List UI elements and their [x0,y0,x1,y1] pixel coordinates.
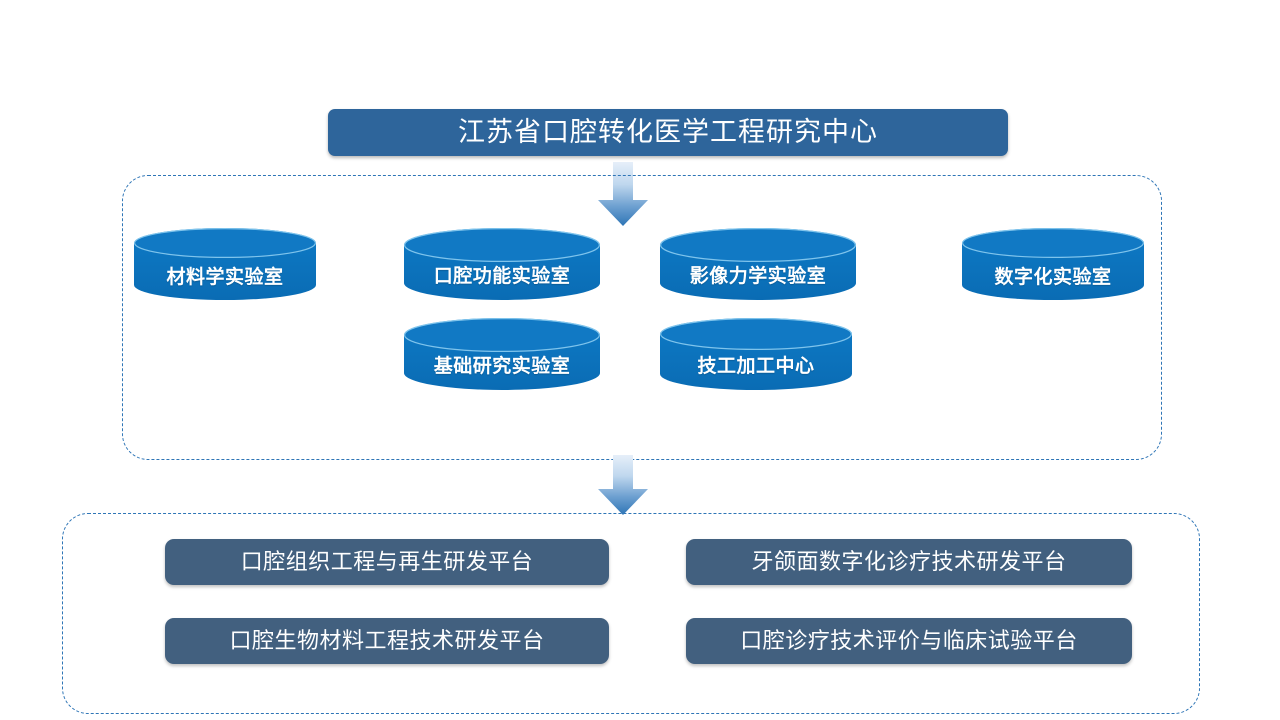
center-title-label: 江苏省口腔转化医学工程研究中心 [458,119,878,146]
center-title-box: 江苏省口腔转化医学工程研究中心 [328,109,1008,156]
arrow-labs-to-platforms [595,455,651,515]
platform-box-2[interactable]: 口腔生物材料工程技术研发平台 [165,618,609,664]
platform-box-0[interactable]: 口腔组织工程与再生研发平台 [165,539,609,585]
platform-box-1-label: 牙颌面数字化诊疗技术研发平台 [751,551,1066,573]
cylinder-lab-5[interactable]: 技工加工中心 [660,318,852,390]
platform-box-3[interactable]: 口腔诊疗技术评价与临床试验平台 [686,618,1132,664]
cylinder-lab-4[interactable]: 基础研究实验室 [404,318,600,390]
cylinder-lab-3[interactable]: 数字化实验室 [962,228,1144,300]
platform-box-3-label: 口腔诊疗技术评价与临床试验平台 [740,630,1078,652]
cylinder-lab-2[interactable]: 影像力学实验室 [660,228,856,300]
diagram-canvas: 江苏省口腔转化医学工程研究中心 [0,0,1280,720]
cylinder-lab-0[interactable]: 材料学实验室 [134,228,316,300]
platform-box-1[interactable]: 牙颌面数字化诊疗技术研发平台 [686,539,1132,585]
cylinder-lab-1[interactable]: 口腔功能实验室 [404,228,600,300]
platform-box-2-label: 口腔生物材料工程技术研发平台 [229,630,544,652]
laboratories-container [122,175,1162,460]
platform-box-0-label: 口腔组织工程与再生研发平台 [241,551,534,573]
